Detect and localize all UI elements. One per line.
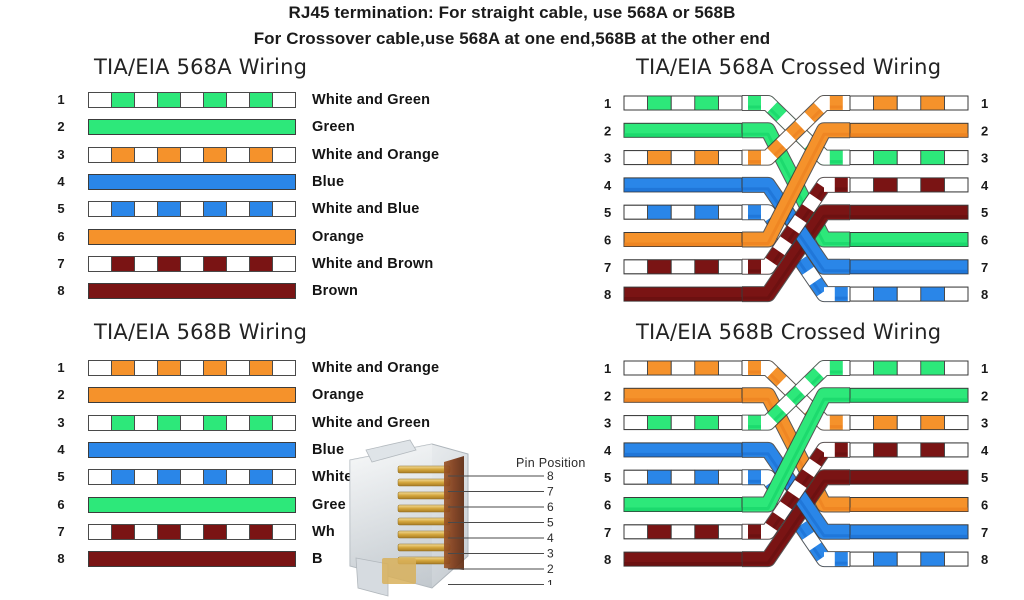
pin-number-right: 3 — [981, 416, 988, 431]
wire-segment — [204, 470, 227, 484]
section-title-568b-crossed: TIA/EIA 568B Crossed Wiring — [636, 320, 941, 344]
pin-number-left: 5 — [604, 205, 611, 220]
pin-number-right: 7 — [981, 525, 988, 540]
wire-segment — [273, 148, 295, 162]
panel-568a-crossed: 1234567812345678 — [596, 88, 996, 313]
wire-bar-solid — [88, 229, 296, 245]
crossed-wire-right — [850, 96, 968, 110]
wire-segment — [135, 416, 158, 430]
wire-label: B — [312, 548, 323, 570]
wire-bar-striped — [88, 256, 296, 272]
leader-number: 1 — [547, 578, 554, 586]
crossed-wire-right — [850, 178, 968, 192]
wire-bar-striped — [88, 360, 296, 376]
pin-number-left: 2 — [50, 384, 72, 406]
wire-segment — [112, 416, 135, 430]
pin-number-left: 5 — [50, 198, 72, 220]
wire-segment — [204, 148, 227, 162]
leader-number: 7 — [547, 485, 554, 499]
crossed-wire-left-segment — [648, 96, 672, 110]
banner-line-1: RJ45 termination: For straight cable, us… — [0, 0, 1024, 26]
crossed-wire-right — [850, 205, 968, 219]
crossed-wire-left — [624, 388, 742, 402]
crossed-wire-right — [850, 416, 968, 430]
wire-bar-striped — [88, 415, 296, 431]
section-title-568a-wiring: TIA/EIA 568A Wiring — [94, 55, 307, 79]
wire-segment — [181, 202, 204, 216]
crossed-wire-right-segment — [874, 416, 898, 430]
wire-segment — [204, 416, 227, 430]
wire-segment — [112, 470, 135, 484]
pin-number-left: 6 — [50, 226, 72, 248]
pin-number-left: 4 — [604, 178, 612, 193]
wire-segment — [227, 525, 250, 539]
pin-number-left: 2 — [604, 388, 611, 403]
wire-segment — [250, 93, 273, 107]
crossed-wire-left-segment — [648, 260, 672, 274]
wire-segment — [158, 416, 181, 430]
wire-bar-striped — [88, 147, 296, 163]
crossed-wire-right — [850, 388, 968, 402]
pin-number-left: 3 — [50, 144, 72, 166]
wire-segment — [89, 525, 112, 539]
wire-segment — [227, 416, 250, 430]
wire-label: Brown — [312, 280, 358, 302]
wire-segment — [181, 93, 204, 107]
crossed-wire-right-segment — [874, 552, 898, 566]
crossed-wire-right — [850, 233, 968, 247]
wire-segment — [204, 257, 227, 271]
crossed-wire-right-segment — [921, 361, 945, 375]
pin-number-left: 2 — [604, 123, 611, 138]
wire-bar-striped — [88, 201, 296, 217]
panel-568b-crossed: 1234567812345678 — [596, 353, 996, 578]
wire-segment — [181, 525, 204, 539]
pin-number-right: 1 — [981, 96, 988, 111]
crossed-wire-left-segment — [695, 205, 719, 219]
pin-number-right: 5 — [981, 470, 988, 485]
wire-label: White and Green — [312, 412, 430, 434]
pin-number-left: 6 — [50, 494, 72, 516]
leader-number: 4 — [547, 531, 554, 545]
crossed-wire-left-segment — [695, 416, 719, 430]
wire-bar-solid — [88, 497, 296, 513]
crossed-wire-right — [850, 525, 968, 539]
pin-number-left: 8 — [604, 552, 611, 567]
wire-label: Blue — [312, 171, 344, 193]
wire-segment — [135, 470, 158, 484]
crossed-wire-right — [850, 470, 968, 484]
leader-number: 6 — [547, 500, 554, 514]
crossed-wire-right — [850, 361, 968, 375]
wire-label: Orange — [312, 226, 364, 248]
pin-number-left: 4 — [604, 443, 612, 458]
crossed-wire-left-segment — [648, 151, 672, 165]
wire-segment — [112, 202, 135, 216]
crossed-wire-left-segment — [695, 525, 719, 539]
crossed-wire-right — [850, 260, 968, 274]
wire-bar-striped — [88, 524, 296, 540]
wire-label: Wh — [312, 521, 335, 543]
wire-segment — [204, 202, 227, 216]
crossed-wire-left — [624, 552, 742, 566]
pin-number-left: 4 — [50, 439, 72, 461]
wire-label: White and Brown — [312, 253, 433, 275]
crossed-wire-right — [850, 287, 968, 301]
banner-line-2: For Crossover cable,use 568A at one end,… — [0, 26, 1024, 52]
wire-segment — [135, 361, 158, 375]
crossed-wire-right-segment — [921, 287, 945, 301]
leader-number: 3 — [547, 547, 554, 561]
crossed-wire-left — [624, 205, 742, 219]
wire-label: White and Orange — [312, 357, 439, 379]
wire-segment — [181, 470, 204, 484]
leader-number: 5 — [547, 516, 554, 530]
crossed-wire-left — [624, 151, 742, 165]
crossed-wire-left-segment — [695, 470, 719, 484]
wire-segment — [250, 470, 273, 484]
wire-bar-solid — [88, 387, 296, 403]
wire-segment — [227, 93, 250, 107]
crossed-wire-left-segment — [648, 470, 672, 484]
wire-segment — [227, 148, 250, 162]
wire-segment — [112, 361, 135, 375]
wire-segment — [181, 416, 204, 430]
pin-number-left: 7 — [50, 521, 72, 543]
wire-segment — [112, 525, 135, 539]
wire-segment — [135, 257, 158, 271]
wire-segment — [273, 416, 295, 430]
pin-number-right: 5 — [981, 205, 988, 220]
wire-segment — [89, 470, 112, 484]
pin-number-left: 1 — [604, 361, 611, 376]
wire-segment — [273, 470, 295, 484]
wire-segment — [89, 361, 112, 375]
pin-number-left: 5 — [50, 466, 72, 488]
crossed-wire-left — [624, 525, 742, 539]
wire-segment — [273, 257, 295, 271]
wire-segment — [250, 148, 273, 162]
pin-number-left: 7 — [50, 253, 72, 275]
pin-number-left: 8 — [50, 548, 72, 570]
pin-number-right: 6 — [981, 498, 988, 513]
pin-number-right: 3 — [981, 151, 988, 166]
crossed-wire-right — [850, 443, 968, 457]
pin-number-left: 6 — [604, 233, 611, 248]
wire-segment — [204, 361, 227, 375]
wire-segment — [89, 257, 112, 271]
crossed-wire-right-segment — [921, 443, 945, 457]
crossed-wire-left-segment — [695, 260, 719, 274]
wire-segment — [250, 202, 273, 216]
crossed-wire-left — [624, 260, 742, 274]
crossed-wire-right-segment — [874, 151, 898, 165]
pin-number-right: 7 — [981, 260, 988, 275]
banner-title: RJ45 termination: For straight cable, us… — [0, 0, 1024, 52]
wire-segment — [227, 361, 250, 375]
wire-segment — [135, 202, 158, 216]
crossed-wire-left — [624, 498, 742, 512]
pin-number-left: 7 — [604, 525, 611, 540]
crossed-wire-left — [624, 361, 742, 375]
pin-number-left: 5 — [604, 470, 611, 485]
wire-bar-solid — [88, 119, 296, 135]
wire-bar-solid — [88, 551, 296, 567]
wire-segment — [181, 257, 204, 271]
wire-segment — [158, 93, 181, 107]
wire-segment — [135, 525, 158, 539]
leader-number: 2 — [547, 562, 554, 576]
leader-number: 8 — [547, 469, 554, 483]
wire-segment — [89, 148, 112, 162]
crossed-wire-right-segment — [921, 178, 945, 192]
pin-number-right: 2 — [981, 388, 988, 403]
wire-segment — [112, 257, 135, 271]
wire-bar-solid — [88, 442, 296, 458]
wire-label: Green — [312, 116, 355, 138]
section-title-568a-crossed: TIA/EIA 568A Crossed Wiring — [636, 55, 941, 79]
wire-segment — [204, 93, 227, 107]
wire-label: White and Blue — [312, 198, 420, 220]
diagram-canvas: RJ45 termination: For straight cable, us… — [0, 0, 1024, 600]
wire-label: Orange — [312, 384, 364, 406]
section-title-568b-wiring: TIA/EIA 568B Wiring — [94, 320, 307, 344]
wire-segment — [250, 525, 273, 539]
crossed-wire-right-segment — [921, 416, 945, 430]
wire-segment — [158, 202, 181, 216]
crossed-wire-left-segment — [695, 96, 719, 110]
crossed-wire-right — [850, 552, 968, 566]
wire-segment — [181, 361, 204, 375]
wire-segment — [158, 470, 181, 484]
pin-number-left: 8 — [604, 287, 611, 302]
crossed-wire-left — [624, 443, 742, 457]
wire-segment — [158, 361, 181, 375]
pin-number-left: 1 — [50, 357, 72, 379]
pin-number-left: 7 — [604, 260, 611, 275]
wire-bar-striped — [88, 469, 296, 485]
wire-segment — [204, 525, 227, 539]
pin-number-left: 2 — [50, 116, 72, 138]
wire-segment — [135, 93, 158, 107]
wire-segment — [273, 361, 295, 375]
crossed-wire-left-segment — [695, 361, 719, 375]
crossed-wire-left — [624, 233, 742, 247]
wire-segment — [273, 525, 295, 539]
wire-segment — [158, 257, 181, 271]
crossed-wire-right-segment — [874, 178, 898, 192]
wire-segment — [112, 148, 135, 162]
crossed-wire-right-segment — [874, 443, 898, 457]
pin-number-left: 1 — [50, 89, 72, 111]
crossed-wire-left — [624, 416, 742, 430]
wire-segment — [112, 93, 135, 107]
crossed-wire-right-segment — [874, 96, 898, 110]
pin-number-left: 6 — [604, 498, 611, 513]
wire-label: White and Orange — [312, 144, 439, 166]
pin-number-left: 3 — [604, 151, 611, 166]
wire-segment — [273, 93, 295, 107]
pin-number-right: 8 — [981, 552, 988, 567]
crossed-wire-left — [624, 96, 742, 110]
pin-number-left: 4 — [50, 171, 72, 193]
crossed-wire-left-segment — [648, 205, 672, 219]
wire-label: White and Green — [312, 89, 430, 111]
crossed-wire-left — [624, 178, 742, 192]
wire-segment — [250, 416, 273, 430]
crossed-wire-right-segment — [921, 552, 945, 566]
pin-number-right: 6 — [981, 233, 988, 248]
wire-segment — [273, 202, 295, 216]
crossed-wire-left-segment — [648, 525, 672, 539]
wire-segment — [89, 93, 112, 107]
wire-bar-solid — [88, 174, 296, 190]
wire-segment — [227, 257, 250, 271]
crossed-wire-right-segment — [874, 287, 898, 301]
wire-segment — [89, 202, 112, 216]
pin-number-left: 8 — [50, 280, 72, 302]
crossed-wire-right — [850, 498, 968, 512]
wire-bar-striped — [88, 92, 296, 108]
crossed-wire-left-segment — [695, 151, 719, 165]
wire-bar-solid — [88, 283, 296, 299]
wire-segment — [135, 148, 158, 162]
wire-segment — [250, 257, 273, 271]
wire-segment — [158, 525, 181, 539]
crossed-wire-left — [624, 470, 742, 484]
crossed-wire-right-segment — [921, 96, 945, 110]
crossed-wire-right — [850, 123, 968, 137]
crossed-wire-left — [624, 287, 742, 301]
pin-number-left: 3 — [50, 412, 72, 434]
wire-segment — [250, 361, 273, 375]
crossed-wire-left — [624, 123, 742, 137]
crossed-wire-right-segment — [921, 151, 945, 165]
pin-number-right: 8 — [981, 287, 988, 302]
wire-segment — [158, 148, 181, 162]
wire-segment — [227, 202, 250, 216]
crossed-wire-right — [850, 151, 968, 165]
pin-number-right: 1 — [981, 361, 988, 376]
crossed-wire-left-segment — [648, 416, 672, 430]
pin-number-right: 4 — [981, 178, 989, 193]
wire-segment — [227, 470, 250, 484]
pin-number-left: 1 — [604, 96, 611, 111]
pin-number-left: 3 — [604, 416, 611, 431]
crossed-wire-left-segment — [648, 361, 672, 375]
wire-segment — [181, 148, 204, 162]
pin-number-right: 2 — [981, 123, 988, 138]
pin-number-right: 4 — [981, 443, 989, 458]
crossed-wire-right-segment — [874, 361, 898, 375]
wire-segment — [89, 416, 112, 430]
